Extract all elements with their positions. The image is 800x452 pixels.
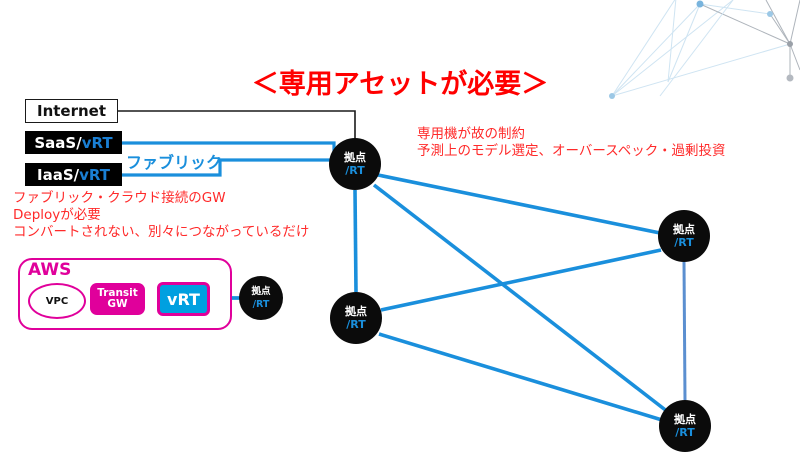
internet-label: Internet <box>37 102 106 120</box>
link-mid-to-bottom <box>379 334 662 420</box>
site-node-sublabel: /RT <box>345 164 365 177</box>
link-hub-to-right <box>378 175 660 233</box>
saas-vrt-label: vRT <box>82 134 113 152</box>
vrt-label: vRT <box>167 290 200 309</box>
site-node[interactable]: 拠点/RT <box>329 138 381 190</box>
site-node-sublabel: /RT <box>674 236 694 249</box>
site-node-sublabel: /RT <box>675 426 695 439</box>
site-node-sublabel: /RT <box>346 318 366 331</box>
annotation-left: ファブリック・クラウド接続のGW Deployが必要 コンバートされない、別々に… <box>13 190 309 241</box>
vrt-node[interactable]: vRT <box>157 282 210 316</box>
annotation-right: 専用機が故の制約 予測上のモデル選定、オーバースペック・過剰投資 <box>417 126 725 160</box>
iaas-label: IaaS/ <box>37 166 79 184</box>
transit-gateway-node[interactable]: Transit GW <box>90 283 145 315</box>
site-node-label: 拠点 <box>674 413 696 426</box>
iaas-vrt-label: vRT <box>79 166 110 184</box>
slide-canvas: ＜専用アセットが必要＞ Internet SaaS/vRT IaaS/vRT フ… <box>0 0 800 450</box>
transit-gw-label: Transit GW <box>97 288 138 311</box>
saas-vrt-box[interactable]: SaaS/vRT <box>25 131 122 154</box>
site-node-label: 拠点 <box>673 223 695 236</box>
site-node-label: 拠点 <box>344 151 366 164</box>
link-mid-to-right <box>381 250 661 310</box>
site-node[interactable]: 拠点/RT <box>659 400 711 452</box>
link-hub-to-mid <box>355 190 356 292</box>
saas-label: SaaS/ <box>34 134 81 152</box>
internet-box[interactable]: Internet <box>25 99 118 123</box>
site-node-label: 拠点 <box>251 285 270 298</box>
site-node[interactable]: 拠点/RT <box>658 210 710 262</box>
iaas-vrt-box[interactable]: IaaS/vRT <box>25 163 122 186</box>
site-node-sublabel: /RT <box>253 298 270 311</box>
vpc-label: VPC <box>46 296 68 307</box>
vpc-node[interactable]: VPC <box>28 283 86 319</box>
aws-label: AWS <box>28 260 71 280</box>
link-internet-to-hub <box>118 111 355 140</box>
site-node[interactable]: 拠点/RT <box>239 276 283 320</box>
fabric-label: ファブリック <box>126 149 222 173</box>
site-node-label: 拠点 <box>345 305 367 318</box>
link-right-to-bottom <box>684 262 685 400</box>
site-node[interactable]: 拠点/RT <box>330 292 382 344</box>
page-title: ＜専用アセットが必要＞ <box>0 62 800 101</box>
